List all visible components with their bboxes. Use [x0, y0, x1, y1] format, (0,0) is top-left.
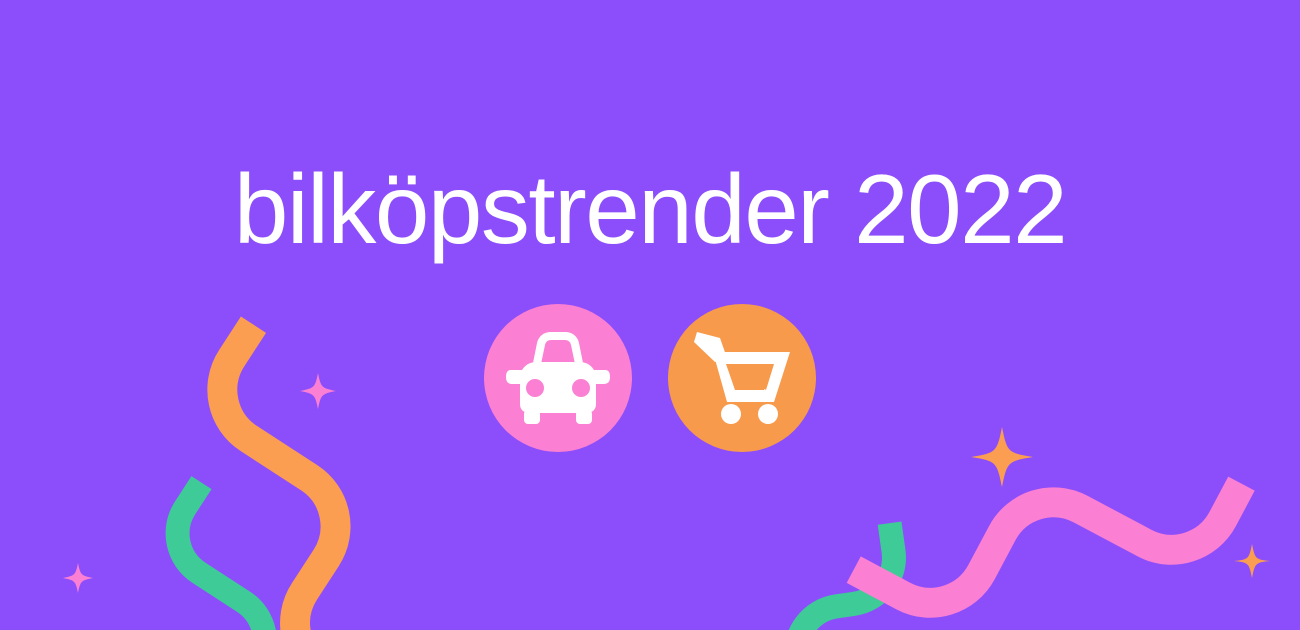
car-icon: [506, 328, 610, 428]
shopping-cart-badge: [668, 304, 816, 452]
shopping-cart-icon: [694, 332, 790, 424]
page-title: bilköpstrender 2022: [0, 152, 1300, 268]
car-badge: [484, 304, 632, 452]
badge-row: [0, 304, 1300, 452]
promo-banner: bilköpstrender 2022: [0, 0, 1300, 630]
banner-content: bilköpstrender 2022: [0, 0, 1300, 630]
